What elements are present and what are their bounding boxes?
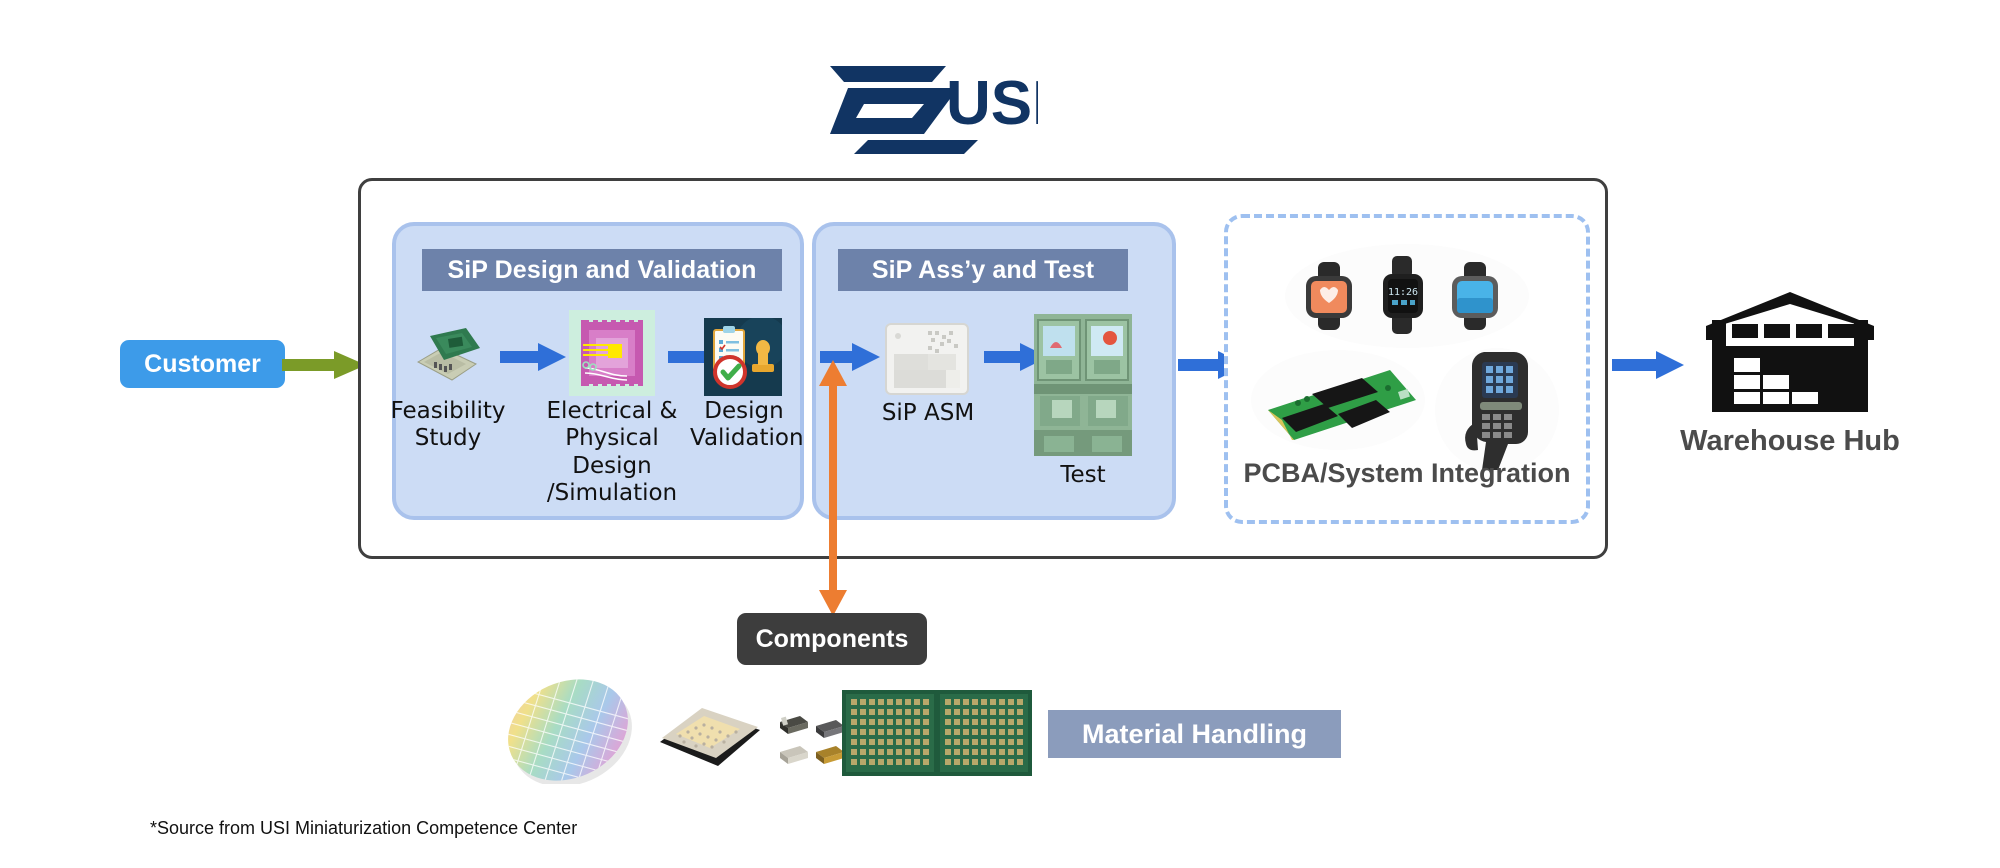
customer-to-process-arrow [282,348,366,382]
step-label-test: Test [1030,462,1136,489]
usi-logo-text: USI [946,69,1038,138]
bga-chip-icon [652,696,768,776]
sip-design-header: SiP Design and Validation [422,249,782,291]
pcb-chip-icon [410,322,486,388]
components-double-arrow [816,360,850,616]
usi-logo: USI [828,62,1038,154]
smd-capacitors-icon [778,706,846,768]
handheld-scanner-icon [1432,344,1562,476]
sip-assy-test-header: SiP Ass’y and Test [838,249,1128,291]
smartwatches-icon: 11:26 [1284,242,1530,350]
pcba-to-warehouse-arrow [1612,348,1684,382]
sip-module-icon [884,322,970,396]
svg-text:11:26: 11:26 [1388,287,1418,298]
step-label-sip-asm: SiP ASM [876,400,980,427]
step-label-electrical-physical-design: Electrical &Physical Design/Simulation [530,398,694,507]
silicon-wafer-icon [500,676,640,784]
chip-layout-icon [569,310,655,396]
clipboard-stamp-icon [704,318,782,396]
warehouse-label: Warehouse Hub [1630,425,1950,458]
step-label-design-validation: DesignValidation [690,398,798,453]
source-note: *Source from USI Miniaturization Compete… [150,818,577,839]
ssd-board-icon [1250,348,1426,452]
components-box[interactable]: Components [737,613,927,665]
pcb-substrate-panel-icon [842,690,1032,776]
warehouse-icon [1700,290,1880,415]
test-station-icon [1034,314,1132,456]
material-handling-label: Material Handling [1048,710,1341,758]
customer-box[interactable]: Customer [120,340,285,388]
pcba-label: PCBA/System Integration [1224,458,1590,489]
step-label-feasibility-study: FeasibilityStudy [380,398,516,453]
process-arrow-1 [500,340,566,374]
